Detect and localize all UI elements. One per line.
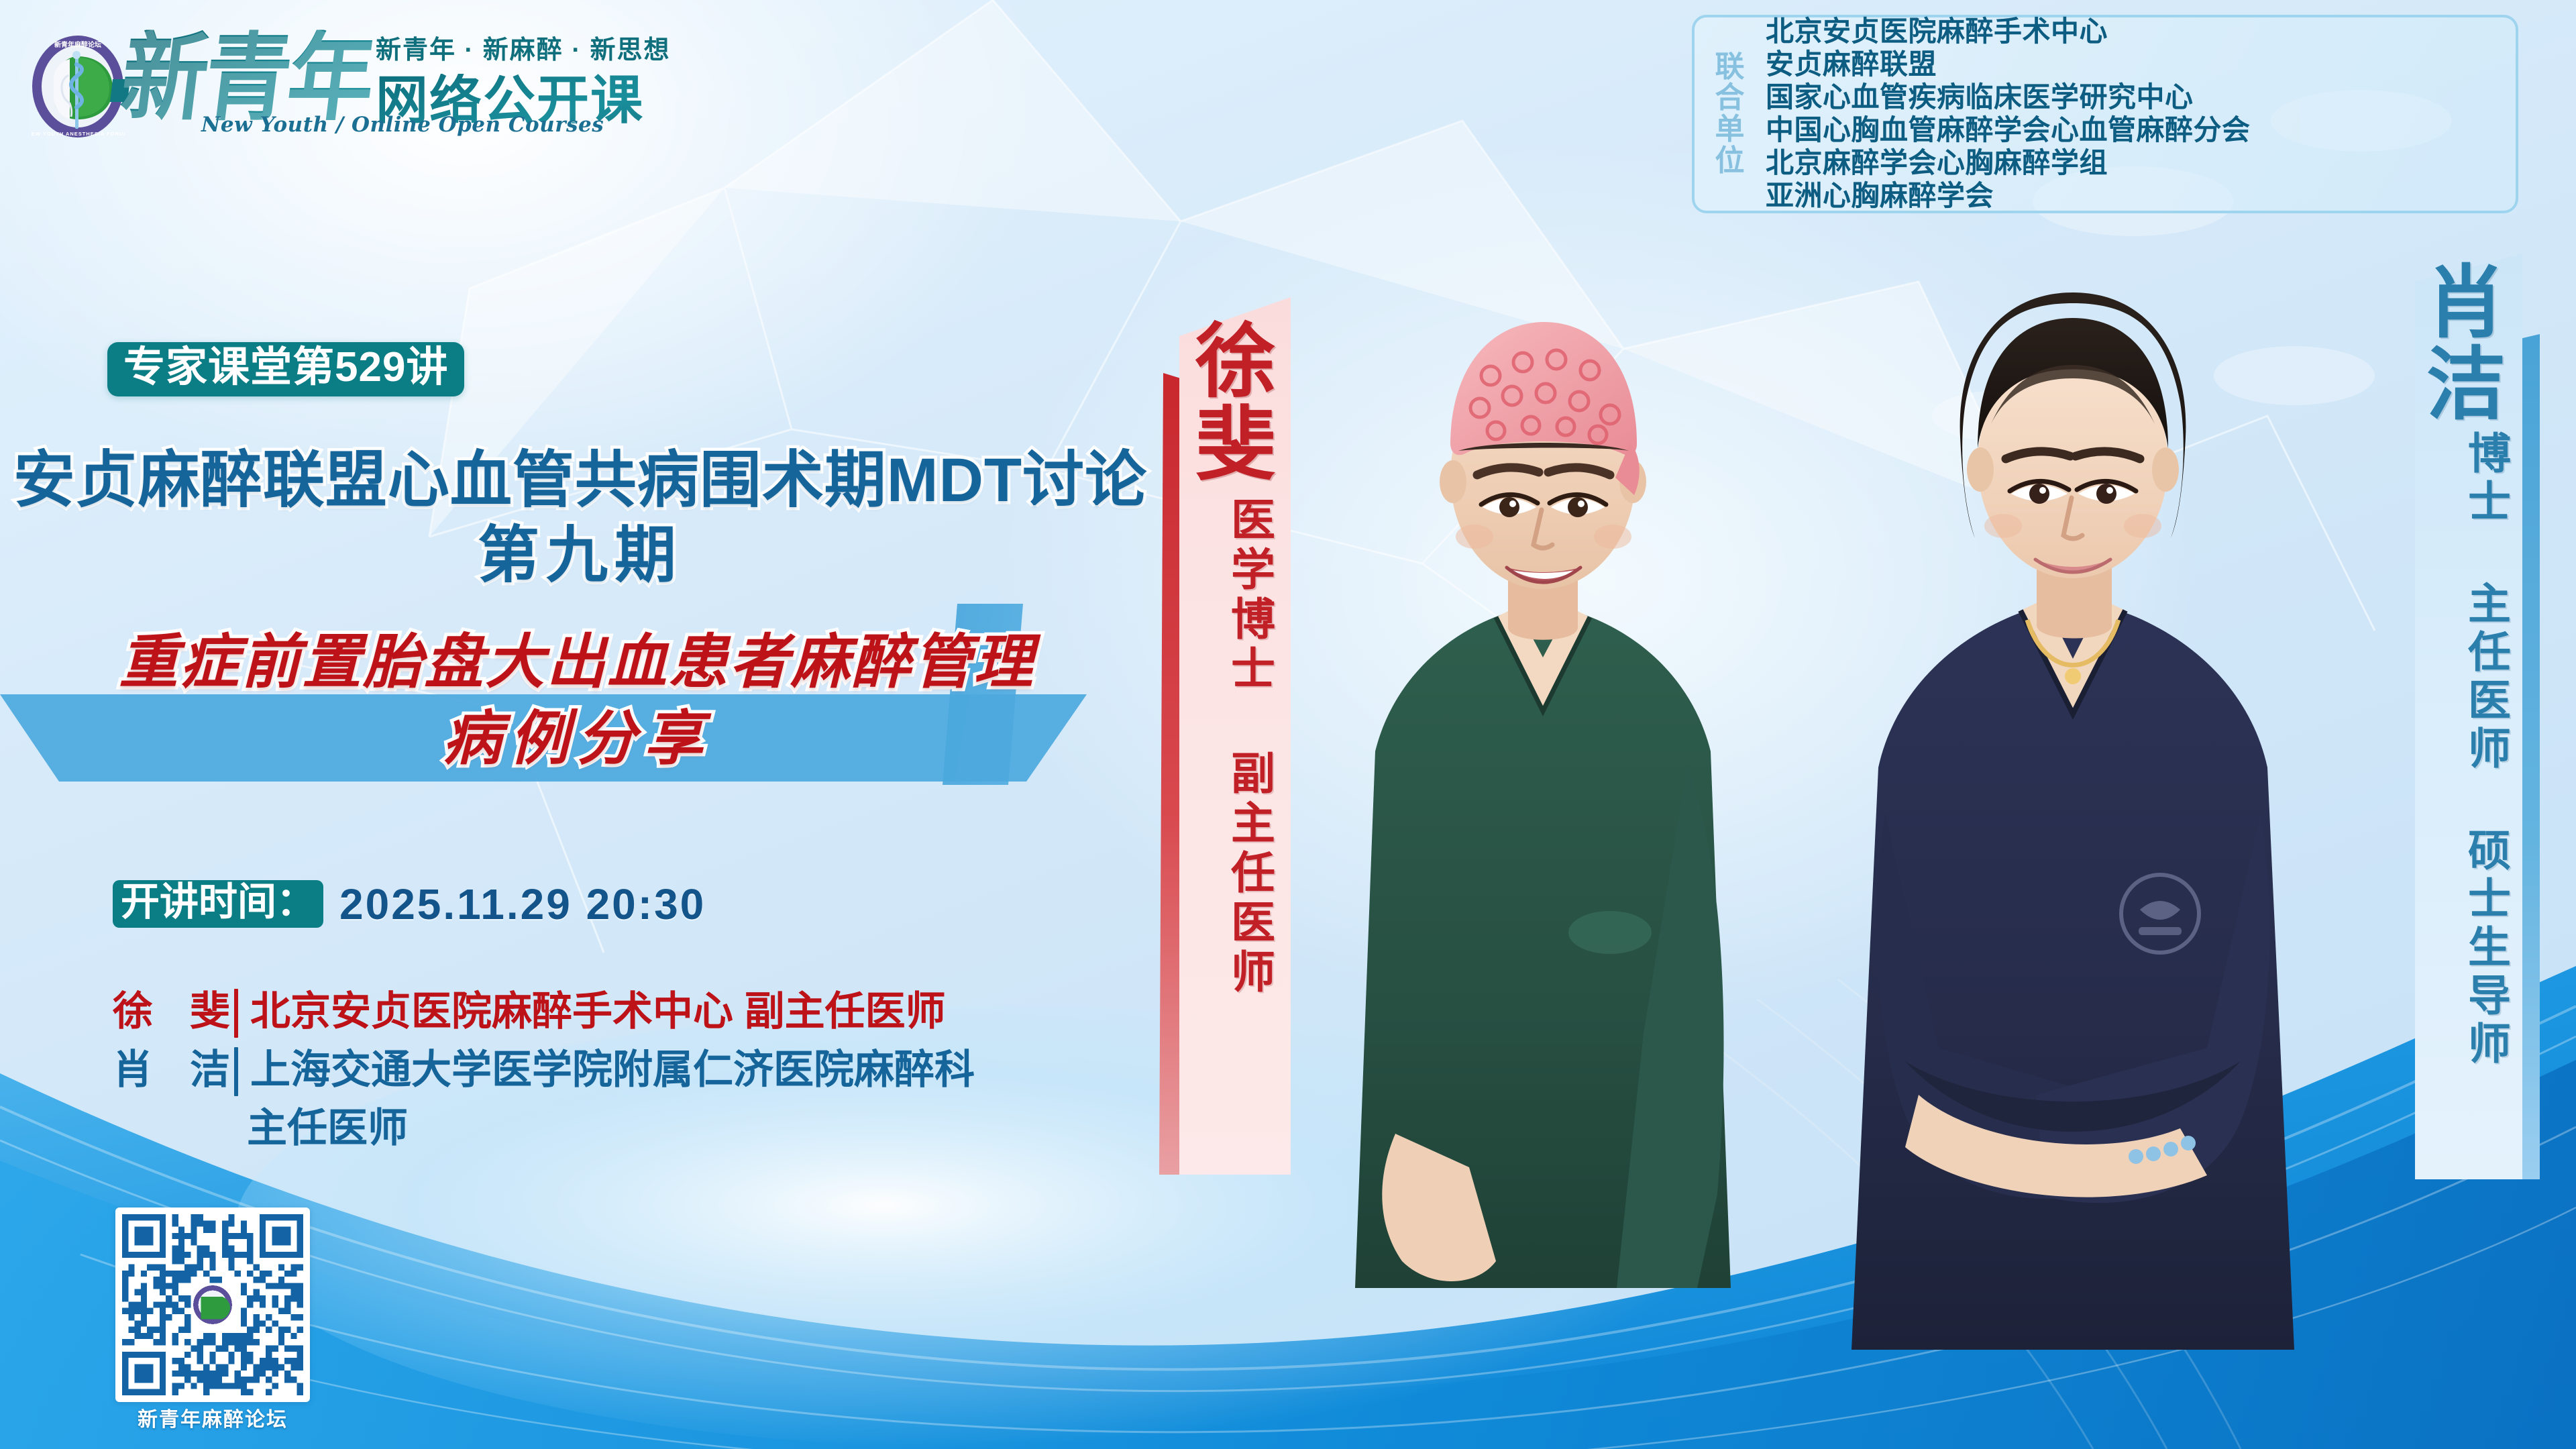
credit-affiliation: 北京安贞医院麻醉手术中心 副主任医师 [250,986,946,1038]
lecture-title-line1: 安贞麻醉联盟心血管共病围术期MDT讨论 [0,443,1161,518]
doctor-xiao-jie-portrait [1805,223,2341,1350]
schedule-label-badge: 开讲时间： [113,880,323,928]
speaker-name-char: 斐 [1189,404,1283,487]
credit-name: 肖 洁 [113,1044,230,1096]
credit-row: 徐 斐 北京安贞医院麻醉手术中心 副主任医师 [113,986,1159,1038]
logo-ring-bottom-text: NEW YOUTH ANESTHESIA FORUM [31,131,125,137]
qr-code-icon[interactable] [122,1214,303,1395]
logo-ring-top-text: 新青年麻醉论坛 [54,40,101,49]
credit-name: 徐 斐 [113,986,230,1038]
lecture-number-badge: 专家课堂第529讲 [107,342,464,396]
org-label-char-3: 位 [1709,146,1751,177]
list-item: 北京麻醉学会心胸麻醉学组 [1766,147,2504,180]
joint-organizers-list: 北京安贞医院麻醉手术中心 安贞麻醉联盟 国家心血管疾病临床医学研究中心 中国心胸… [1766,15,2504,213]
credit-surname: 肖 [113,1044,153,1096]
credit-affiliation-extra: 主任医师 [247,1103,1159,1155]
joint-organizers-box: 联 合 单 位 北京安贞医院麻醉手术中心 安贞麻醉联盟 国家心血管疾病临床医学研… [1692,15,2518,213]
org-label-char-0: 联 [1709,52,1751,83]
qr-code-block[interactable]: 新青年麻醉论坛 [115,1207,310,1433]
lecture-subtitle-line2: 病例分享 [0,700,1154,777]
credit-affiliation: 上海交通大学医学院附属仁济医院麻醉科 [250,1044,975,1096]
speaker-titles-left: 医学博士 副主任医师 [1201,496,1275,1154]
credit-given: 斐 [190,986,230,1038]
lecture-number-text: 专家课堂第529讲 [123,344,448,390]
speaker-name-right: 肖 洁 [2419,263,2513,426]
list-item: 亚洲心胸麻醉学会 [1766,180,2504,213]
joint-organizers-label: 联 合 单 位 [1709,52,1751,177]
forum-logo: 新青年麻醉论坛 NEW YOUTH ANESTHESIA FORUM [31,35,125,139]
list-item: 国家心血管疾病临床医学研究中心 [1766,81,2504,114]
credit-given: 洁 [190,1044,230,1096]
org-label-char-2: 单 [1709,114,1751,146]
lecture-subtitle: 重症前置胎盘大出血患者麻醉管理 病例分享 [0,624,1154,777]
brand-slogan: 新青年 · 新麻醉 · 新思想 [376,38,792,63]
qr-code-caption: 新青年麻醉论坛 [115,1407,310,1433]
list-item: 中国心胸血管麻醉学会心血管麻醉分会 [1766,114,2504,147]
brand-course-en: New Youth / Online Open Courses [201,113,604,137]
credit-divider [234,989,238,1038]
doctor-xu-fei-portrait [1295,241,1791,1288]
qr-code-box[interactable] [115,1207,310,1402]
schedule-row: 开讲时间： 2025.11.29 20:30 [113,880,706,928]
credit-surname: 徐 [113,986,153,1038]
poster-canvas: 新青年麻醉论坛 NEW YOUTH ANESTHESIA FORUM 新青年 新… [0,0,2576,1449]
schedule-label-text: 开讲时间： [121,880,315,924]
speaker-name-char: 肖 [2419,263,2513,345]
speaker-name-left: 徐 斐 [1189,321,1283,486]
speaker-banner-left-stripe [1159,373,1181,1175]
schedule-datetime: 2025.11.29 20:30 [339,883,706,926]
credit-row: 肖 洁 上海交通大学医学院附属仁济医院麻醉科 [113,1044,1159,1096]
page-title: 安贞麻醉联盟心血管共病围术期MDT讨论 第九期 [0,443,1161,593]
list-item: 北京安贞医院麻醉手术中心 [1766,15,2504,48]
credit-divider [234,1047,238,1096]
speaker-titles-right: 博士 主任医师 硕士生导师 [2438,431,2510,1152]
lecture-title-line2: 第九期 [0,518,1161,593]
lecture-subtitle-line1: 重症前置胎盘大出血患者麻醉管理 [0,624,1154,700]
speaker-name-char: 徐 [1189,321,1283,404]
list-item: 安贞麻醉联盟 [1766,48,2504,81]
speaker-credits: 徐 斐 北京安贞医院麻醉手术中心 副主任医师 肖 洁 上海交通大学医学院附属仁济… [113,986,1159,1154]
org-label-char-1: 合 [1709,83,1751,114]
speaker-name-char: 洁 [2419,345,2513,427]
